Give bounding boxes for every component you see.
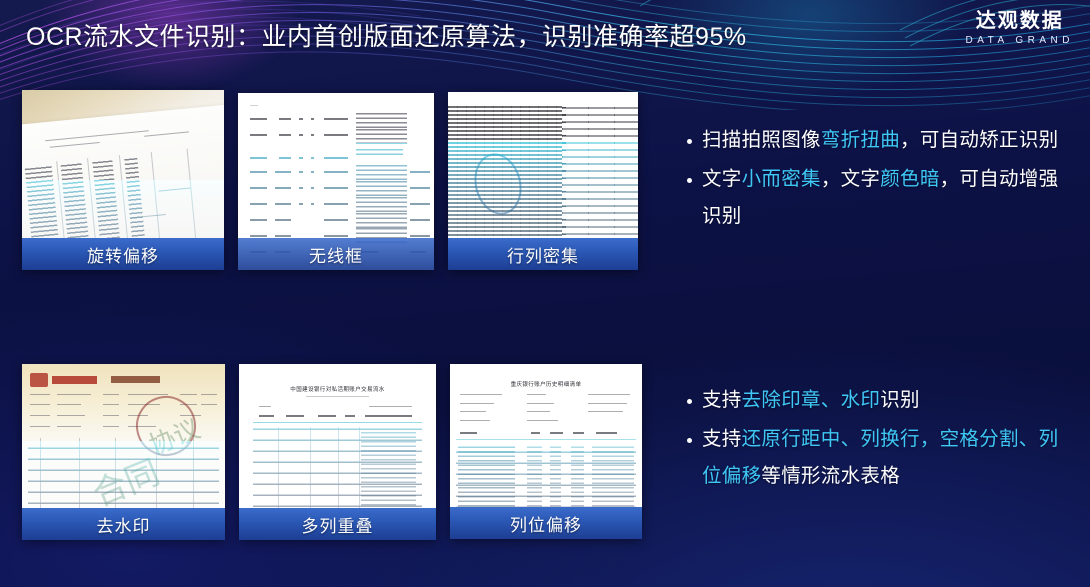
bullet-text: 识别 — [880, 389, 920, 411]
card-caption: 去水印 — [22, 508, 225, 540]
bullet-item: 扫描拍照图像弯折扭曲，可自动矫正识别 — [686, 122, 1066, 159]
card-rotation-offset[interactable]: 旋转偏移 — [22, 90, 224, 270]
bullet-list-bottom: 支持去除印章、水印识别 支持还原行距中、列换行，空格分割、列位偏移等情形流水表格 — [686, 382, 1076, 497]
bullet-highlight-text: 弯折扭曲 — [821, 129, 900, 151]
bullet-item: 文字小而密集，文字颜色暗，可自动增强识别 — [686, 161, 1066, 235]
bullet-list-top: 扫描拍照图像弯折扭曲，可自动矫正识别 文字小而密集，文字颜色暗，可自动增强识别 — [686, 122, 1066, 237]
bullet-item: 支持还原行距中、列换行，空格分割、列位偏移等情形流水表格 — [686, 421, 1076, 495]
page-title: OCR流水文件识别：业内首创版面还原算法，识别准确率超95% — [26, 17, 747, 53]
card-caption: 列位偏移 — [450, 507, 642, 539]
card-caption: 旋转偏移 — [22, 238, 224, 270]
card-row-bottom: 合同 协议 去水印 中国建设银行对私活期账户交易流水 — [22, 364, 642, 540]
card-dense-rows-columns[interactable]: 行列密集 — [448, 92, 638, 270]
sample-image-grid: 旋转偏移 — [22, 90, 642, 540]
bullet-text: 支持 — [702, 389, 742, 411]
bullet-text: 文字 — [702, 168, 742, 190]
bullet-highlight-text: 颜色暗 — [880, 168, 939, 190]
slide-header: OCR流水文件识别：业内首创版面还原算法，识别准确率超95% 达观数据 DATA… — [0, 0, 1090, 68]
logo-english-text: DATA GRAND — [965, 35, 1074, 46]
card-caption: 多列重叠 — [239, 508, 436, 540]
card-row-top: 旋转偏移 — [22, 90, 642, 270]
bullet-highlight-text: 去除印章、水印 — [742, 389, 881, 411]
card-overlapping-columns[interactable]: 中国建设银行对私活期账户交易流水 — [239, 364, 436, 540]
slide-root: OCR流水文件识别：业内首创版面还原算法，识别准确率超95% 达观数据 DATA… — [0, 0, 1090, 587]
card-column-offset[interactable]: 重庆银行账户历史明细清单 — [450, 364, 642, 539]
card-caption: 行列密集 — [448, 238, 638, 270]
bullet-text: ，文字 — [821, 168, 880, 190]
logo-chinese-text: 达观数据 — [965, 10, 1074, 33]
brand-logo: 达观数据 DATA GRAND — [965, 10, 1074, 46]
bullet-text: ，可自动矫正识别 — [900, 129, 1058, 151]
bullet-text: 等情形流水表格 — [761, 465, 900, 487]
card-caption: 无线框 — [238, 238, 434, 270]
bullet-highlight-text: 小而密集 — [742, 168, 821, 190]
bullet-text: 支持 — [702, 428, 742, 450]
bullet-text: 扫描拍照图像 — [702, 129, 821, 151]
card-remove-watermark[interactable]: 合同 协议 去水印 — [22, 364, 225, 540]
card-borderless-table[interactable]: 无线框 — [238, 93, 434, 270]
bullet-item: 支持去除印章、水印识别 — [686, 382, 1076, 419]
